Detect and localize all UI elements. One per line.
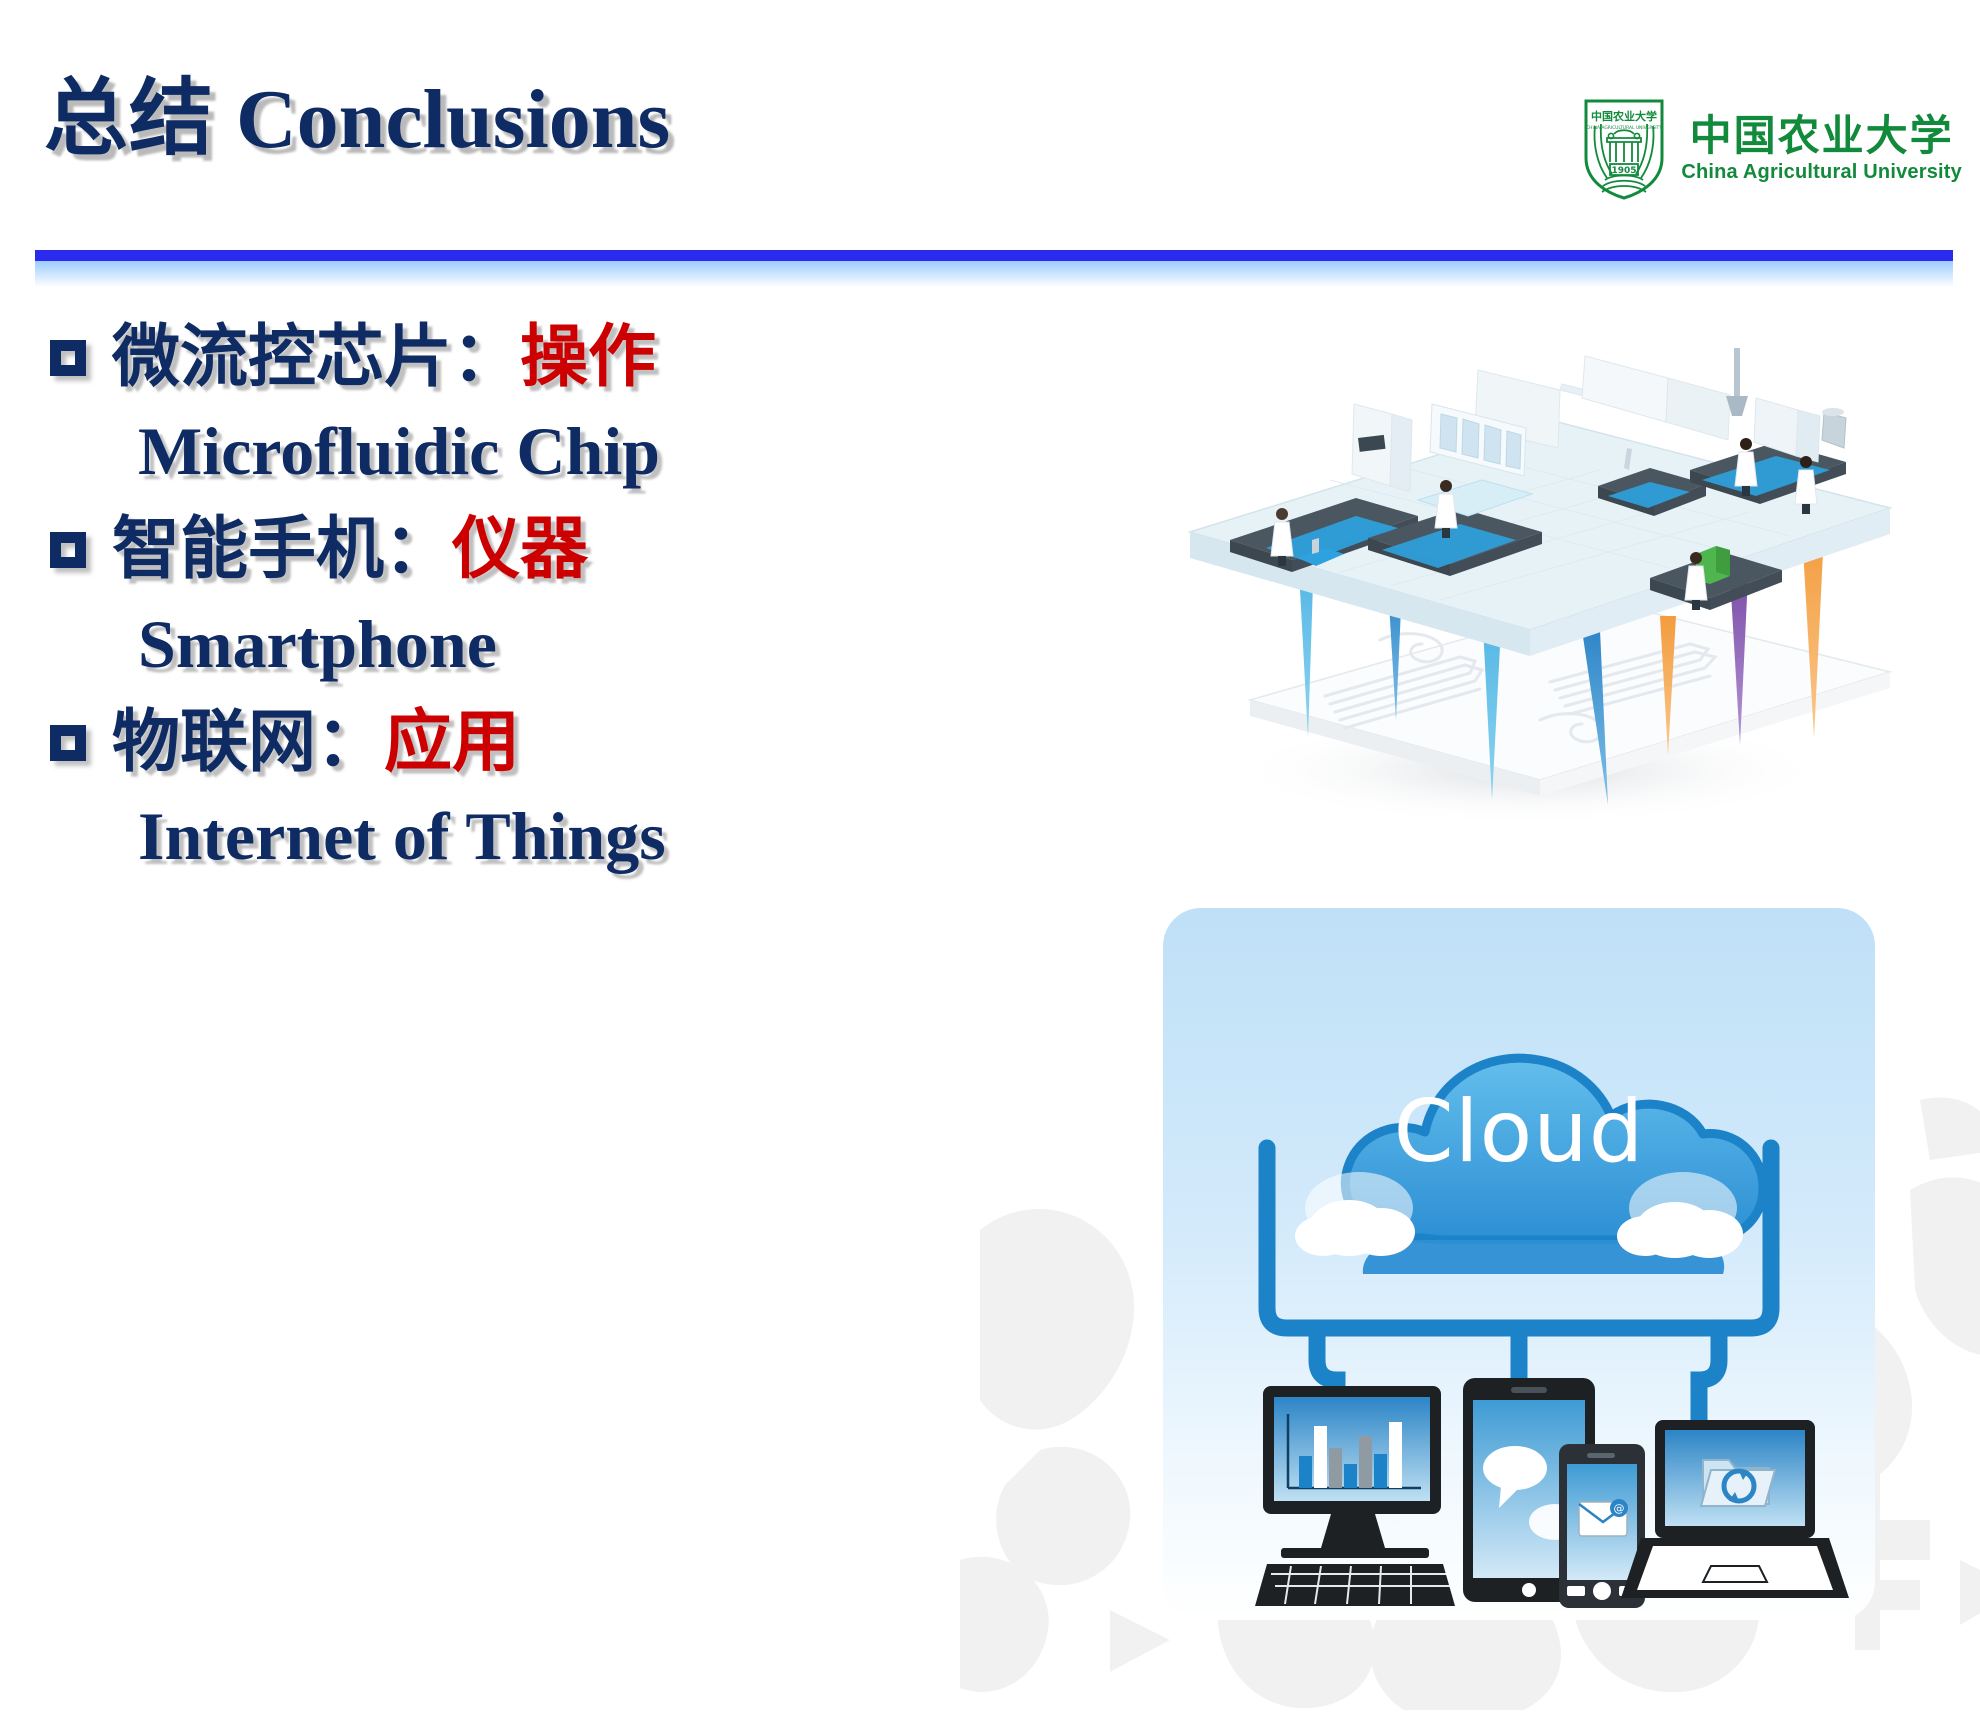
university-name-cn: 中国农业大学 [1690,114,1954,158]
square-outline-icon [50,532,86,568]
bullet-2-cn-main: 智能手机： [112,510,452,589]
svg-text:中国农业大学: 中国农业大学 [1591,109,1657,123]
page-title-en: Conclusions [236,73,670,166]
title-divider-rule [35,250,1953,261]
bullet-3-cn-main: 物联网： [112,703,384,782]
bullet-1-cn-highlight: 操作 [520,318,656,397]
slide-header: 总结Conclusions 中国农业大学 CHINA AGRICULTURAL … [0,0,1980,270]
bullet-2-en: Smartphone [138,605,1060,683]
desktop-monitor-device [1255,1386,1455,1606]
bullet-line-cn-1: 微流控芯片：操作 [50,320,1060,396]
university-name-block: 中国农业大学 China Agricultural University [1681,114,1962,184]
list-item: 物联网：应用 Internet of Things [50,705,1060,875]
laboratory-floor [1190,348,1890,656]
bullet-line-cn-3: 物联网：应用 [50,705,1060,781]
bullet-3-en: Internet of Things [138,797,1060,875]
list-item: 智能手机：仪器 Smartphone [50,512,1060,682]
square-outline-icon [50,725,86,761]
university-logo: 中国农业大学 CHINA AGRICULTURAL UNIVERSITY 190… [1581,96,1962,202]
lab-on-chip-figure [1130,300,1950,840]
page-title: 总结Conclusions [44,76,670,162]
bullet-1-cn-main: 微流控芯片： [112,318,520,397]
cloud-iot-figure: @ Cloud [1163,908,1875,1620]
bullet-line-cn-2: 智能手机：仪器 [50,512,1060,588]
email-envelope-icon: @ [1579,1499,1628,1536]
cloud-shape [1295,1058,1763,1274]
svg-text:1905: 1905 [1612,166,1637,176]
bullet-3-cn-highlight: 应用 [384,703,520,782]
laptop-device [1621,1420,1849,1598]
bullet-2-cn-highlight: 仪器 [452,510,588,589]
svg-text:@: @ [1614,1502,1625,1515]
university-name-en: China Agricultural University [1681,161,1962,184]
university-shield-icon: 中国农业大学 CHINA AGRICULTURAL UNIVERSITY 190… [1581,96,1667,202]
page-title-cn: 总结 [44,69,214,167]
conclusions-list: 微流控芯片：操作 Microfluidic Chip 智能手机：仪器 Smart… [50,320,1060,897]
bullet-1-en: Microfluidic Chip [138,412,1060,490]
list-item: 微流控芯片：操作 Microfluidic Chip [50,320,1060,490]
square-outline-icon [50,340,86,376]
small-cloud-left [1295,1172,1415,1256]
